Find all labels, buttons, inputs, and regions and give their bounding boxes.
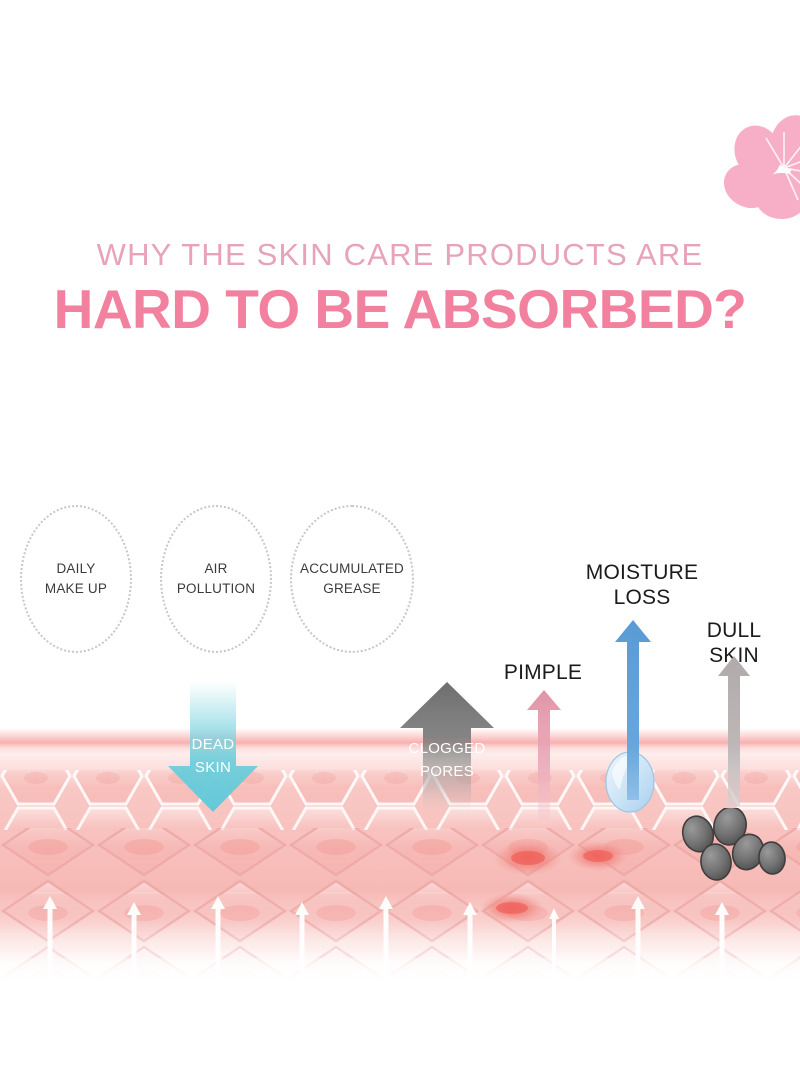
cause-air-pollution: AIR POLLUTION [160, 505, 272, 653]
arrow-dead-skin: DEAD SKIN [168, 682, 258, 812]
cause-label: DAILY MAKE UP [45, 559, 107, 598]
grit-particles-icon [680, 808, 786, 882]
causes-group: DAILY MAKE UP AIR POLLUTION ACCUMULATED … [14, 505, 414, 655]
cause-label: ACCUMULATED GREASE [300, 559, 404, 598]
headline-block: WHY THE SKIN CARE PRODUCTS ARE HARD TO B… [0, 238, 800, 338]
label-moisture-loss: MOISTURE LOSS [568, 560, 716, 610]
arrow-clogged-pores: CLOGGED PORES [400, 682, 494, 812]
cause-label: AIR POLLUTION [177, 559, 255, 598]
arrow-dull-skin [718, 656, 750, 806]
cherry-blossom-icon [718, 108, 800, 228]
arrow-moisture-loss [615, 620, 651, 800]
headline-subtitle: WHY THE SKIN CARE PRODUCTS ARE [0, 238, 800, 273]
skin-cross-section: DEAD SKIN CLOGGED PORES [0, 660, 800, 980]
arrow-pimple [527, 690, 561, 820]
cause-daily-make-up: DAILY MAKE UP [20, 505, 132, 653]
headline-title: HARD TO BE ABSORBED? [0, 281, 800, 339]
infographic-poster: WHY THE SKIN CARE PRODUCTS ARE HARD TO B… [0, 0, 800, 1090]
cause-accumulated-grease: ACCUMULATED GREASE [290, 505, 414, 653]
